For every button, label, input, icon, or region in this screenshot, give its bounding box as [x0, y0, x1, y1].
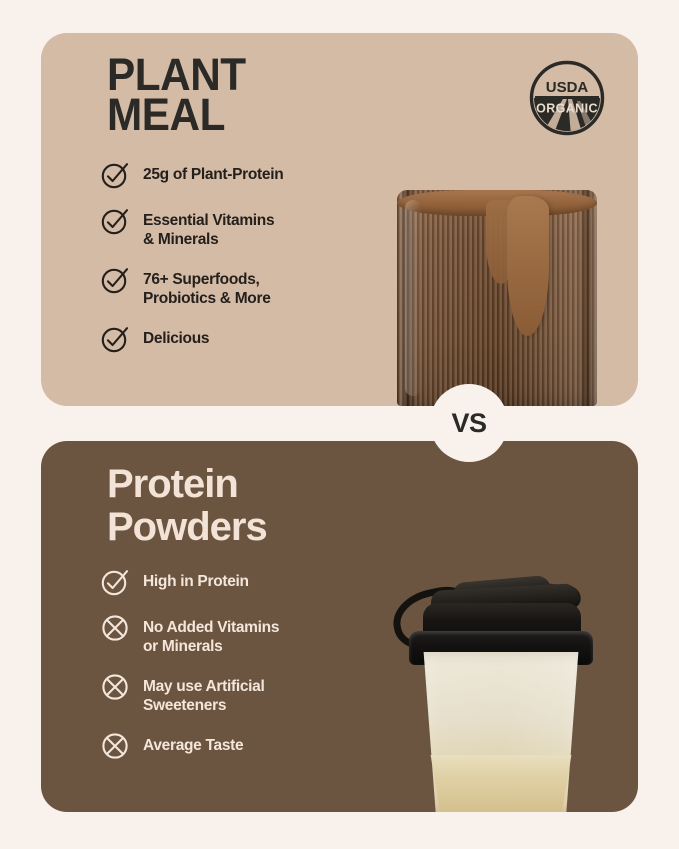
usda-badge-bottom-text: ORGANIC	[536, 102, 598, 116]
usda-organic-seal: USDA ORGANIC	[527, 58, 607, 138]
vs-label: VS	[451, 410, 486, 437]
feature-label: Delicious	[143, 326, 209, 348]
feature-label: No Added Vitamins or Minerals	[143, 615, 279, 656]
feature-label: Essential Vitamins & Minerals	[143, 208, 274, 249]
protein-powders-panel: Protein Powders High in Protein	[41, 441, 638, 812]
usda-badge-top-text: USDA	[546, 79, 589, 96]
feature-item: High in Protein	[100, 569, 279, 597]
feature-label: Average Taste	[143, 733, 243, 755]
protein-powders-title: Protein Powders	[107, 463, 267, 549]
plant-meal-panel: PLANT MEAL USDA ORGANIC	[41, 33, 638, 406]
check-circle-icon	[100, 265, 130, 295]
feature-label: 76+ Superfoods, Probiotics & More	[143, 267, 271, 308]
feature-item: Average Taste	[100, 733, 279, 761]
feature-item: Essential Vitamins & Minerals	[100, 208, 283, 249]
x-circle-icon	[100, 731, 130, 761]
shaker-liquid	[421, 755, 581, 812]
smoothie-drip	[507, 196, 549, 336]
x-circle-icon	[100, 613, 130, 643]
feature-item: 25g of Plant-Protein	[100, 162, 283, 190]
plant-meal-feature-list: 25g of Plant-Protein Essential Vitamins …	[100, 162, 283, 354]
feature-item: 76+ Superfoods, Probiotics & More	[100, 267, 283, 308]
feature-label: 25g of Plant-Protein	[143, 162, 283, 184]
x-circle-icon	[100, 672, 130, 702]
check-circle-icon	[100, 160, 130, 190]
check-circle-icon	[100, 206, 130, 236]
feature-item: May use Artificial Sweeteners	[100, 674, 279, 715]
protein-powder-product-image	[357, 559, 638, 812]
protein-powders-feature-list: High in Protein No Added Vitamins or Min…	[100, 569, 279, 761]
plant-meal-title: PLANT MEAL	[107, 55, 246, 134]
glass-highlight	[405, 200, 421, 396]
vs-divider-badge: VS	[430, 384, 508, 462]
feature-item: No Added Vitamins or Minerals	[100, 615, 279, 656]
product-comparison-graphic: PLANT MEAL USDA ORGANIC	[0, 0, 679, 849]
feature-label: May use Artificial Sweeteners	[143, 674, 265, 715]
check-circle-icon	[100, 324, 130, 354]
feature-item: Delicious	[100, 326, 283, 354]
feature-label: High in Protein	[143, 569, 249, 591]
check-circle-icon	[100, 567, 130, 597]
plant-meal-product-image	[355, 190, 638, 406]
